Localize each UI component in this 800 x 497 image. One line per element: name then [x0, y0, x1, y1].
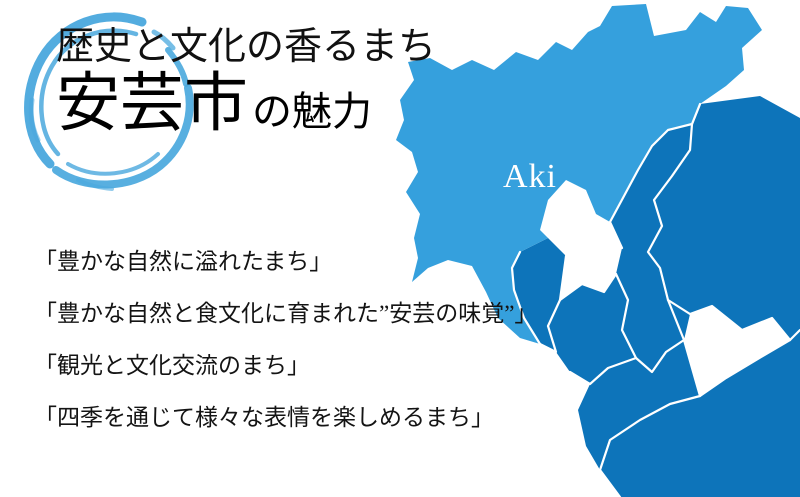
tagline-item: 「豊かな自然と食文化に育まれた”安芸の味覚”」 [34, 302, 537, 325]
title-line-2: 安芸市 の魅力 [56, 72, 436, 136]
tagline-item: 「観光と文化交流のまち」 [34, 354, 537, 377]
map-aki-border [512, 104, 700, 344]
tagline-item: 「四季を通じて様々な表情を楽しめるまち」 [34, 406, 537, 429]
poster-canvas: Aki 歴史と文化の香るまち [0, 0, 800, 497]
title-suffix: の魅力 [252, 92, 372, 132]
tagline-list: 「豊かな自然に溢れたまち」 「豊かな自然と食文化に育まれた”安芸の味覚”」 「観… [34, 250, 537, 429]
map-neighbor-regions [512, 96, 800, 497]
title-city-name: 安芸市 [56, 72, 248, 136]
title-text-group: 歴史と文化の香るまち 安芸市 の魅力 [56, 28, 436, 136]
map-label-aki: Aki [503, 160, 557, 194]
title-block: 歴史と文化の香るまち 安芸市 の魅力 [0, 0, 470, 220]
map-internal-borders [540, 104, 800, 497]
title-line-1: 歴史と文化の香るまち [56, 28, 436, 66]
tagline-item: 「豊かな自然に溢れたまち」 [34, 250, 537, 273]
